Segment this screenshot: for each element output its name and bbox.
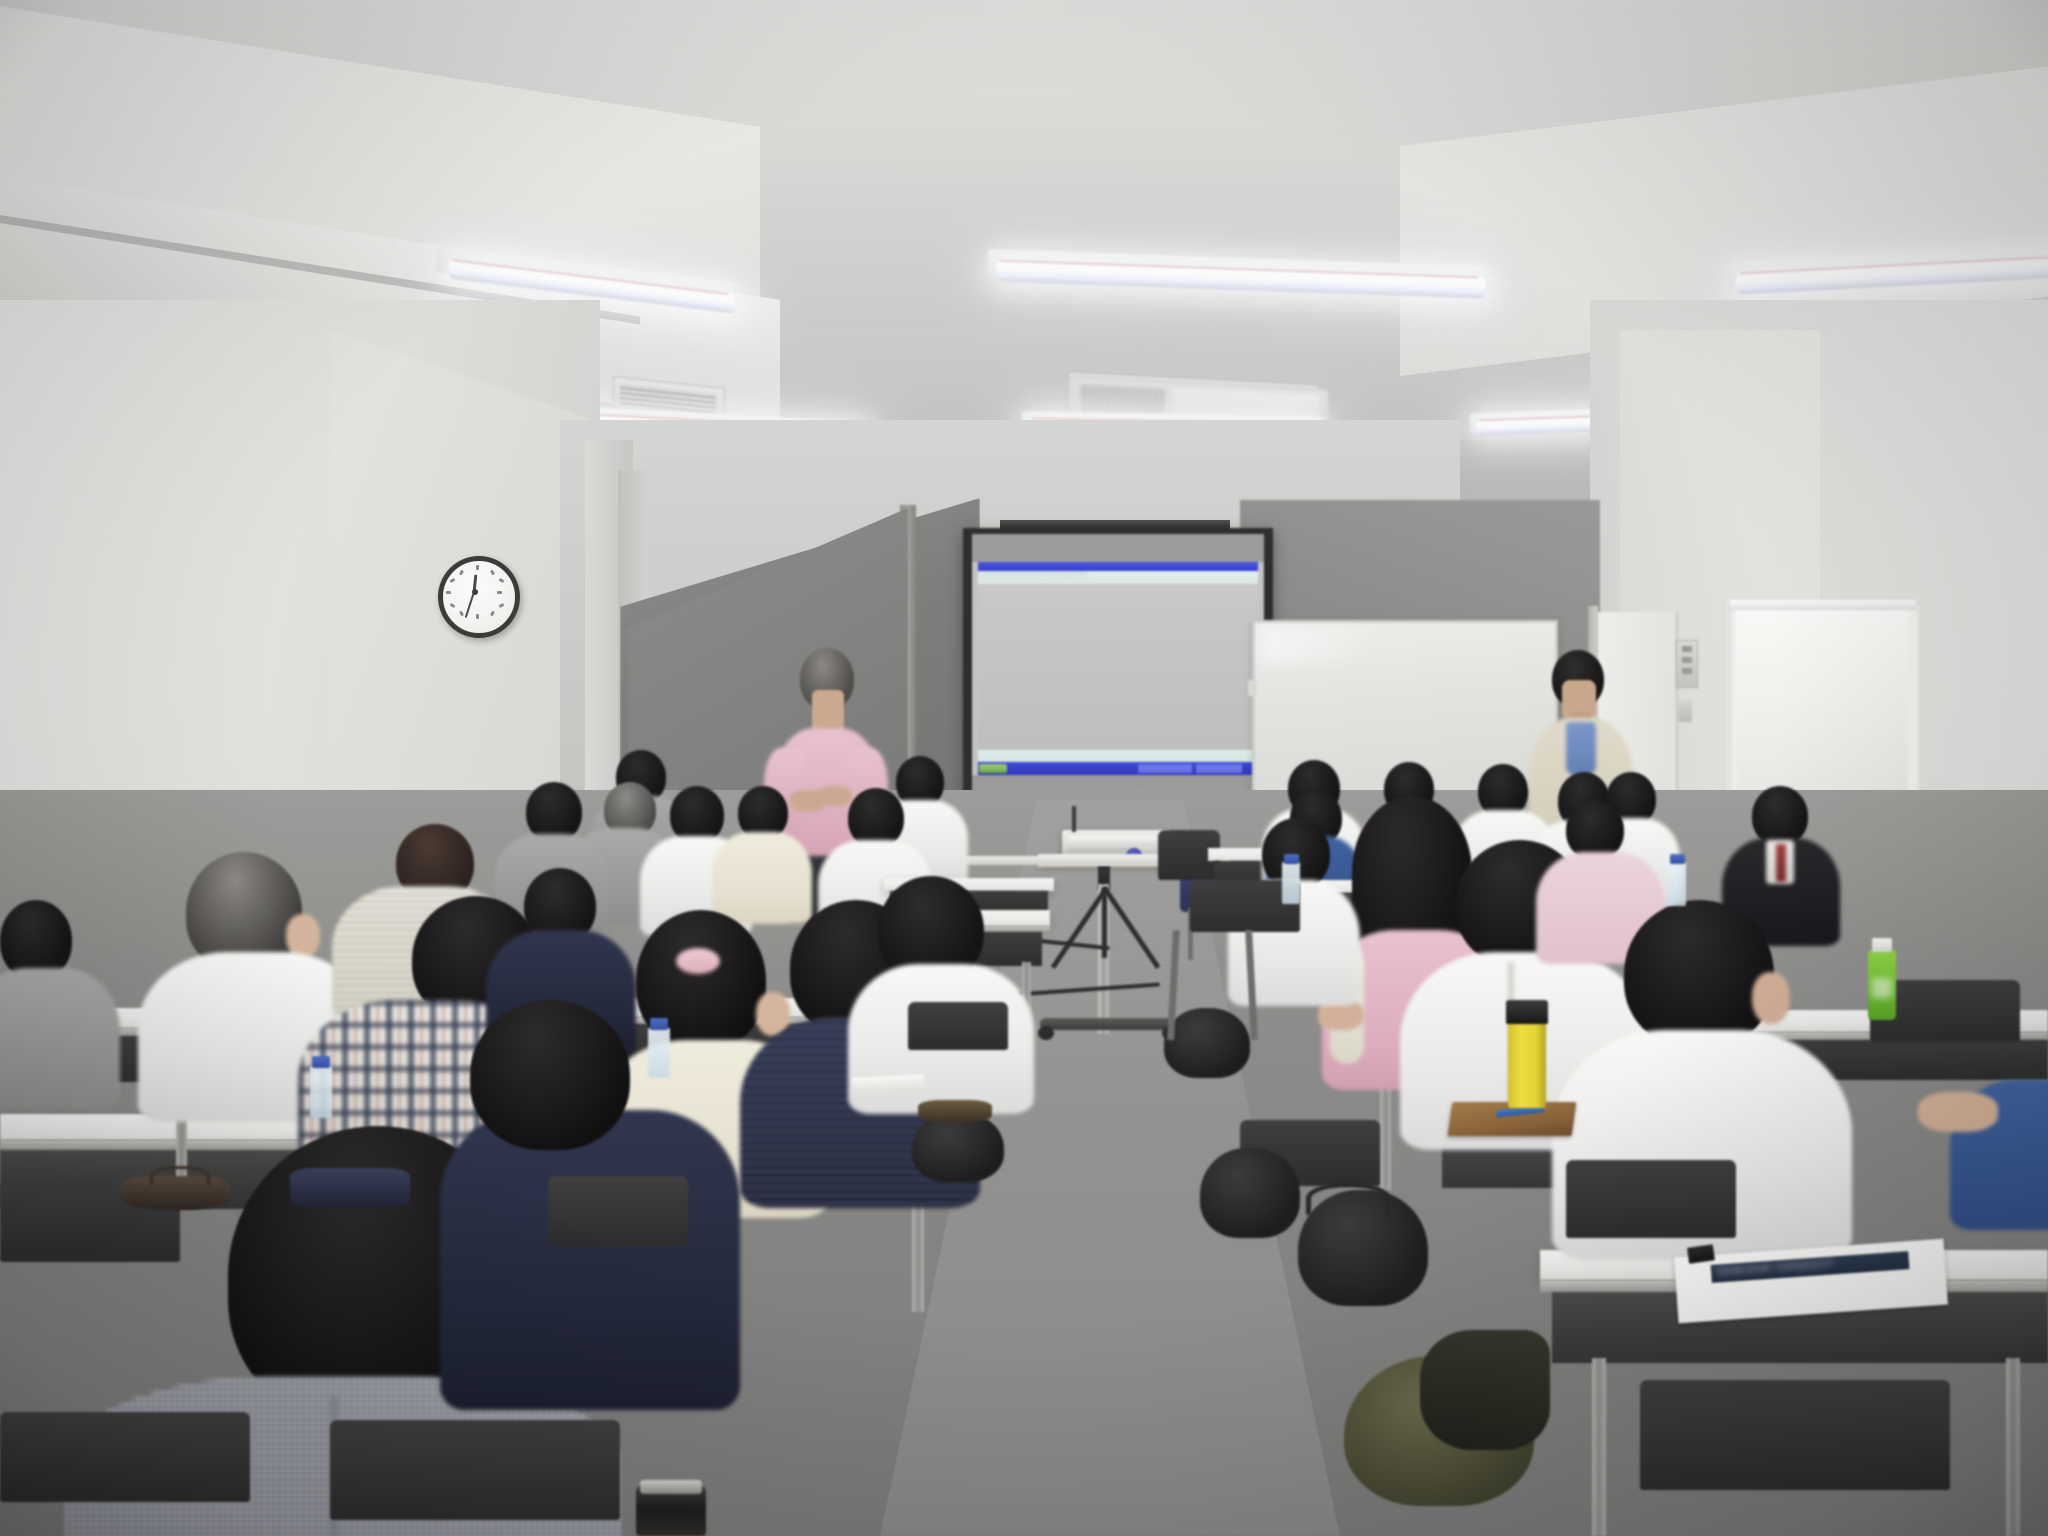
projected-window-canvas	[978, 584, 1258, 750]
attendee-farright-suit-head	[1752, 786, 1808, 846]
attendee-right-fg-ear	[1752, 972, 1790, 1024]
seminar-room-photo: File Edit View Insert Format Tools Windo…	[0, 0, 2048, 1536]
handout-header-text: SEMINAR HANDOUT	[1711, 1251, 1909, 1279]
water-bottle-left-cap	[312, 1056, 330, 1068]
desk-right-front-leg-2	[2006, 1358, 2020, 1536]
door-handle-icon[interactable]	[1678, 700, 1692, 722]
bag-aisle-far[interactable]	[1164, 1008, 1250, 1078]
attendee-foreground-navy-head	[470, 1000, 630, 1150]
clock-minute-hand	[465, 592, 475, 618]
clock-center-pin	[472, 589, 478, 595]
stand-caster-left	[1038, 1026, 1054, 1040]
bag-left-aisle-flap	[918, 1100, 992, 1122]
green-tea-bottle-cap	[1872, 938, 1892, 952]
projected-taskbar	[978, 762, 1258, 775]
projected-taskbar-item-1	[1138, 764, 1192, 773]
desk-right-front-leg-1	[1592, 1358, 1606, 1536]
wall-clock	[438, 556, 520, 638]
whiteboard-clip	[1248, 680, 1256, 696]
water-bottle-left[interactable]	[310, 1066, 332, 1118]
black-backpack-aisle[interactable]	[1200, 1148, 1300, 1238]
projector-stand-base	[1040, 1018, 1176, 1030]
chair-foreground-center[interactable]	[330, 1420, 620, 1520]
projected-top-letterbox	[972, 534, 1264, 562]
attendee-right-pinkpolo-head	[1566, 800, 1624, 860]
whiteboard-glare	[1262, 628, 1372, 664]
chair-foreground-right[interactable]	[1640, 1380, 1950, 1490]
blind-roller-tube	[1730, 600, 1916, 610]
projector-mount-rod	[1072, 806, 1076, 832]
water-bottle-center[interactable]	[648, 1028, 670, 1078]
green-tea-bottle-label	[1872, 978, 1892, 998]
dark-bag-left-desk[interactable]	[290, 1168, 410, 1208]
attendee-far-right-edge-hand	[1918, 1092, 1998, 1132]
projected-window-titlebar	[978, 562, 1258, 571]
water-bottle-far-right-cap	[1670, 854, 1685, 864]
light-switch-panel[interactable]	[1676, 640, 1698, 688]
yellow-thermos[interactable]	[1508, 1020, 1546, 1108]
projected-application-window: File Edit View Insert Format Tools Windo…	[972, 534, 1264, 809]
scrunchie-hair-tie	[676, 948, 720, 974]
second-speaker-shirt	[1566, 722, 1596, 776]
yellow-thermos-cap	[1506, 1000, 1548, 1024]
projected-taskbar-item-2	[1196, 764, 1242, 773]
projected-menu-labels: File Edit View Insert Format Tools Windo…	[978, 571, 1258, 577]
attendee-right-fg-head	[1624, 900, 1774, 1048]
olive-bag-flap	[1420, 1330, 1550, 1450]
black-thermos-cap-rim	[640, 1480, 702, 1494]
attendee-backleft-3-head	[526, 782, 582, 842]
chair-left-mid[interactable]	[548, 1176, 688, 1246]
chair-foreground-left[interactable]	[0, 1412, 250, 1502]
desk-right-row1b-leg-1	[1380, 1078, 1391, 1190]
attendee-farright-necktie	[1776, 844, 1786, 882]
projected-taskbar-start-button	[979, 764, 1007, 773]
chair-right-mid[interactable]	[1566, 1160, 1736, 1238]
handout-header-band: SEMINAR HANDOUT	[1711, 1251, 1910, 1283]
handbag-handle	[150, 1166, 210, 1185]
water-bottle-right-cap	[1284, 854, 1299, 864]
attendee-foreground-navy-body	[440, 1110, 740, 1410]
black-bag-strap	[1306, 1182, 1390, 1215]
attendee-center-2-body	[712, 832, 812, 924]
chair-left-far[interactable]	[908, 1002, 1008, 1050]
attendee-center-4-head	[848, 788, 904, 848]
attendee-left-edge-body	[0, 968, 120, 1108]
projection-screen: File Edit View Insert Format Tools Windo…	[972, 534, 1264, 809]
water-bottle-right[interactable]	[1282, 862, 1300, 904]
projected-canvas-text	[978, 584, 1258, 592]
bag-left-aisle[interactable]	[912, 1112, 1004, 1182]
projected-window-statusbar	[978, 750, 1258, 762]
window-roller-blind[interactable]	[1736, 610, 1908, 794]
presenter-hand-right	[818, 786, 852, 806]
water-bottle-far-right[interactable]	[1668, 862, 1686, 906]
water-bottle-center-cap	[650, 1018, 668, 1030]
projected-window-menubar: File Edit View Insert Format Tools Windo…	[978, 571, 1258, 584]
